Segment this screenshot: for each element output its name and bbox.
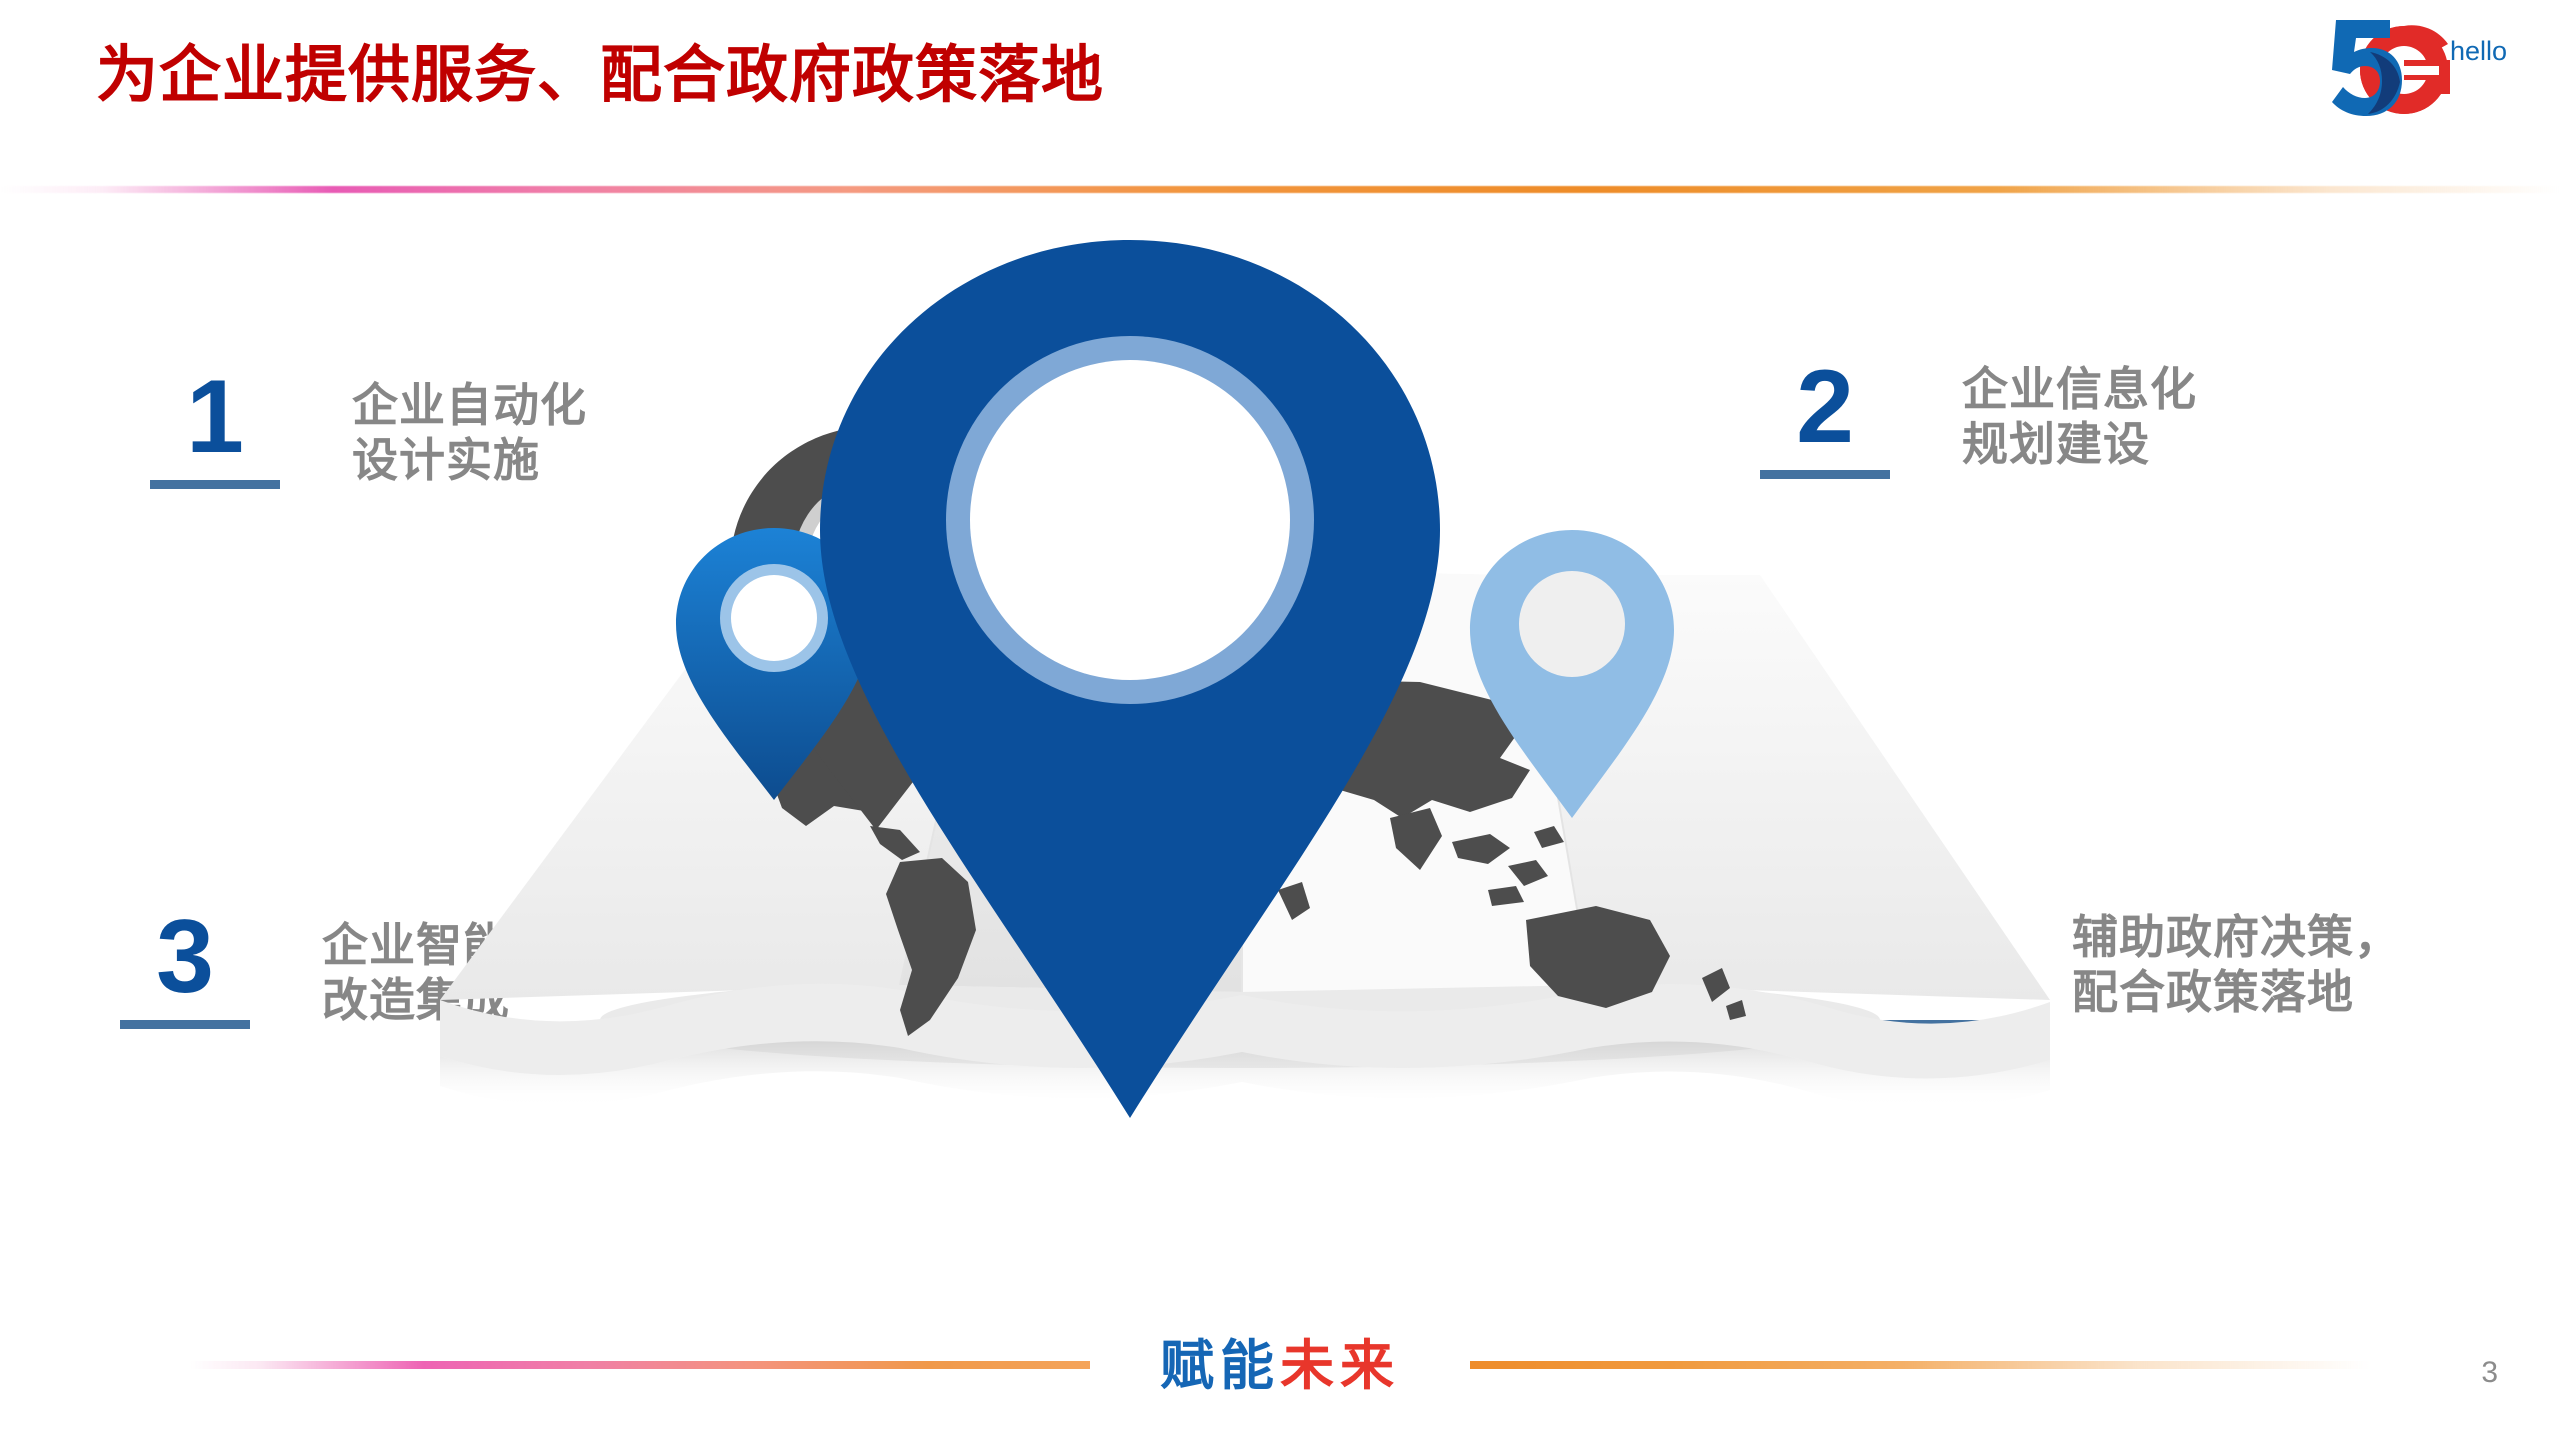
page-title: 为企业提供服务、配合政府政策落地 (96, 40, 1104, 111)
footer-tagline-red: 未来 (1280, 1336, 1400, 1396)
item-3-number-block: 3 (120, 910, 250, 1029)
item-4-line2: 配合政策落地 (2072, 965, 2401, 1020)
item-1-number-block: 1 (150, 370, 280, 489)
item-3-number: 3 (156, 910, 214, 1006)
item-4-text: 辅助政府决策， 配合政策落地 (2072, 910, 2401, 1020)
world-map-graphic (430, 230, 2050, 1230)
item-4-line1: 辅助政府决策， (2072, 911, 2401, 963)
slide-footer: 赋能未来 (0, 1330, 2560, 1420)
item-1-number: 1 (186, 370, 244, 466)
page-number: 3 (2481, 1356, 2498, 1390)
item-1-underline (150, 480, 280, 489)
footer-tagline: 赋能未来 (0, 1330, 2560, 1402)
footer-tagline-blue: 赋能 (1160, 1336, 1280, 1396)
item-3-underline (120, 1020, 250, 1029)
slide-root: 为企业提供服务、配合政府政策落地 hello (0, 0, 2560, 1440)
logo-wordmark: hello (2450, 36, 2507, 66)
brand-logo-5g-hello: hello (2308, 8, 2518, 126)
header-gradient-divider (0, 186, 2560, 193)
